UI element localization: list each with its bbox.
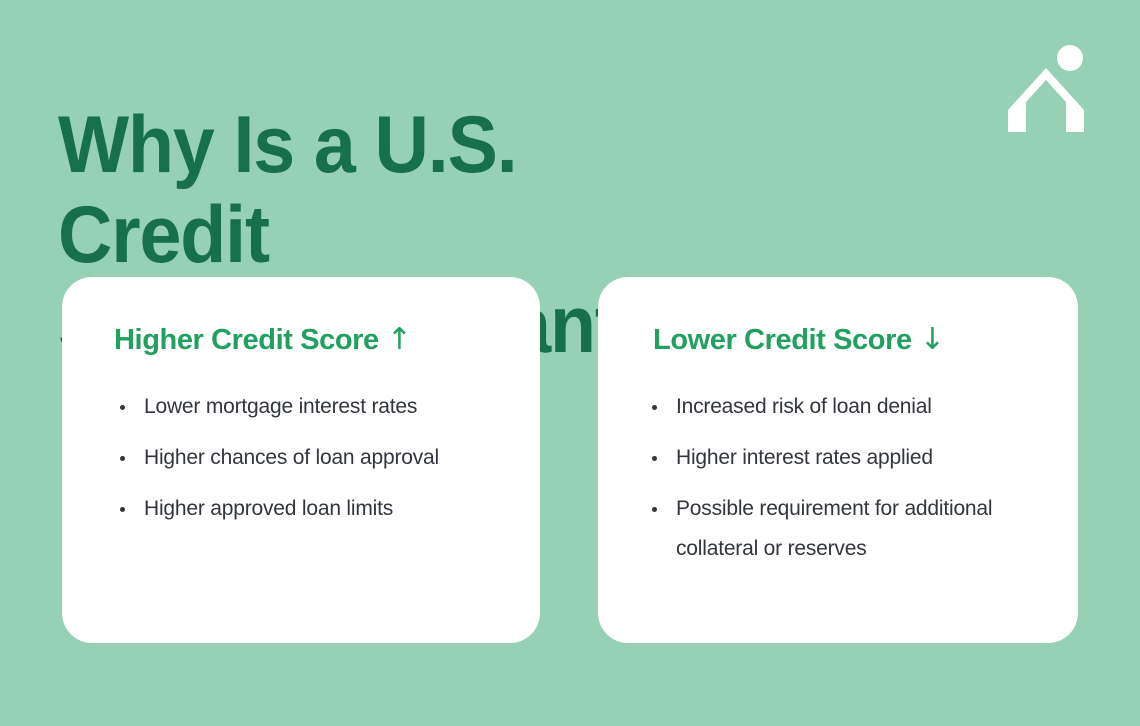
arrow-up-icon: ↑ <box>387 322 412 357</box>
list-item: Higher interest rates applied <box>642 438 1062 478</box>
list-item-text: Lower mortgage interest rates <box>144 395 417 418</box>
house-logo-icon <box>1000 36 1092 132</box>
bullet-dot-icon <box>652 405 657 410</box>
bullet-dot-icon <box>120 456 125 461</box>
list-item-text: Higher approved loan limits <box>144 497 393 520</box>
list-item-text: Higher chances of loan approval <box>144 446 439 469</box>
list-item: Possible requirement for additional coll… <box>642 489 1062 569</box>
card-higher-credit-score: Higher Credit Score↑ Lower mortgage inte… <box>62 277 540 643</box>
card-heading-text: Higher Credit Score <box>114 324 379 356</box>
list-item-text: Higher interest rates applied <box>676 446 933 469</box>
list-item: Lower mortgage interest rates <box>110 387 510 427</box>
risk-list-lower: Increased risk of loan denial Higher int… <box>642 387 1062 580</box>
list-item: Higher approved loan limits <box>110 489 510 529</box>
list-item-text: Increased risk of loan denial <box>676 395 932 418</box>
bullet-dot-icon <box>652 456 657 461</box>
benefit-list-higher: Lower mortgage interest rates Higher cha… <box>110 387 510 540</box>
list-item: Increased risk of loan denial <box>642 387 1062 427</box>
list-item-text: Possible requirement for additional coll… <box>676 497 992 560</box>
card-heading-higher: Higher Credit Score↑ <box>114 322 412 357</box>
infographic-canvas: Why Is a U.S. Credit Score Important? Hi… <box>0 0 1140 726</box>
list-item: Higher chances of loan approval <box>110 438 510 478</box>
bullet-dot-icon <box>120 405 125 410</box>
arrow-down-icon: ↓ <box>920 322 945 357</box>
bullet-dot-icon <box>652 507 657 512</box>
bullet-dot-icon <box>120 507 125 512</box>
card-lower-credit-score: Lower Credit Score↓ Increased risk of lo… <box>598 277 1078 643</box>
card-heading-lower: Lower Credit Score↓ <box>653 322 944 357</box>
card-heading-text: Lower Credit Score <box>653 324 912 356</box>
